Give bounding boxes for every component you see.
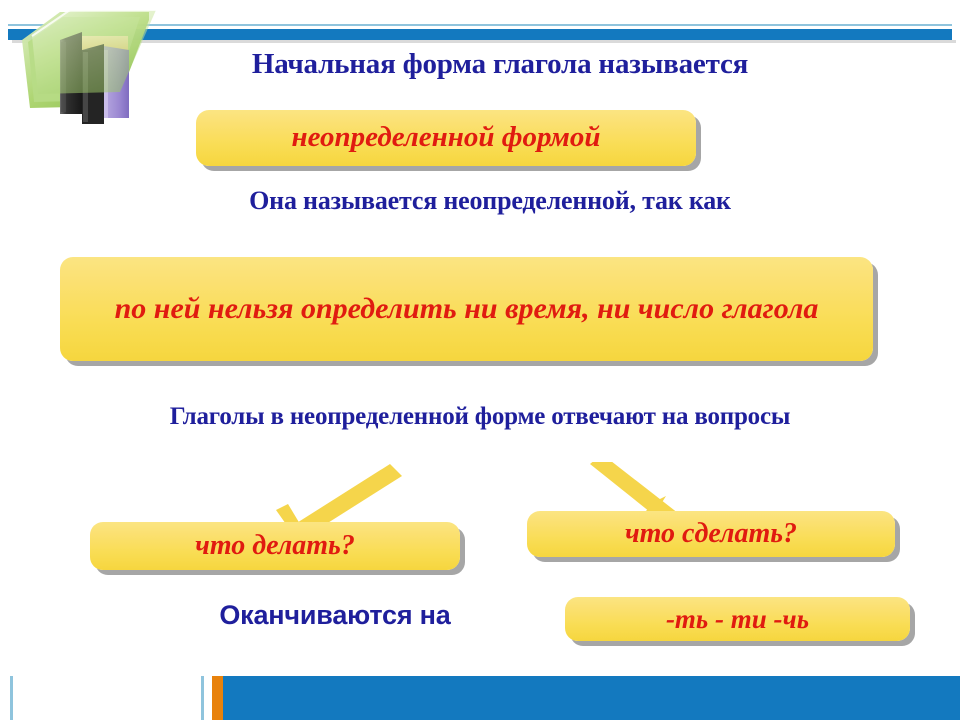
statement-questions-intro: Глаголы в неопределенной форме отвечают …: [60, 402, 900, 432]
callout-endings: -ть - ти -чь: [565, 597, 910, 641]
callout-infinitive-name: неопределенной формой: [196, 110, 696, 166]
bottom-accent-bar: [223, 676, 960, 720]
statement-why-indefinite: Она называется неопределенной, так как: [100, 186, 880, 217]
callout-reason: по ней нельзя определить ни время, ни чи…: [60, 257, 873, 361]
statement-endings-intro: Оканчиваются на: [150, 600, 520, 632]
folder-with-books-icon: [8, 6, 158, 124]
page-title: Начальная форма глагола называется: [150, 47, 850, 81]
callout-question-what-to-do-perfective: что сделать?: [527, 511, 895, 557]
bottom-orange-block: [212, 676, 223, 720]
bottom-left-tick: [10, 676, 13, 720]
callout-question-what-to-do-imperfective: что делать?: [90, 522, 460, 570]
slide-canvas: Начальная форма глагола называется неопр…: [0, 0, 960, 720]
bottom-mid-tick: [201, 676, 204, 720]
